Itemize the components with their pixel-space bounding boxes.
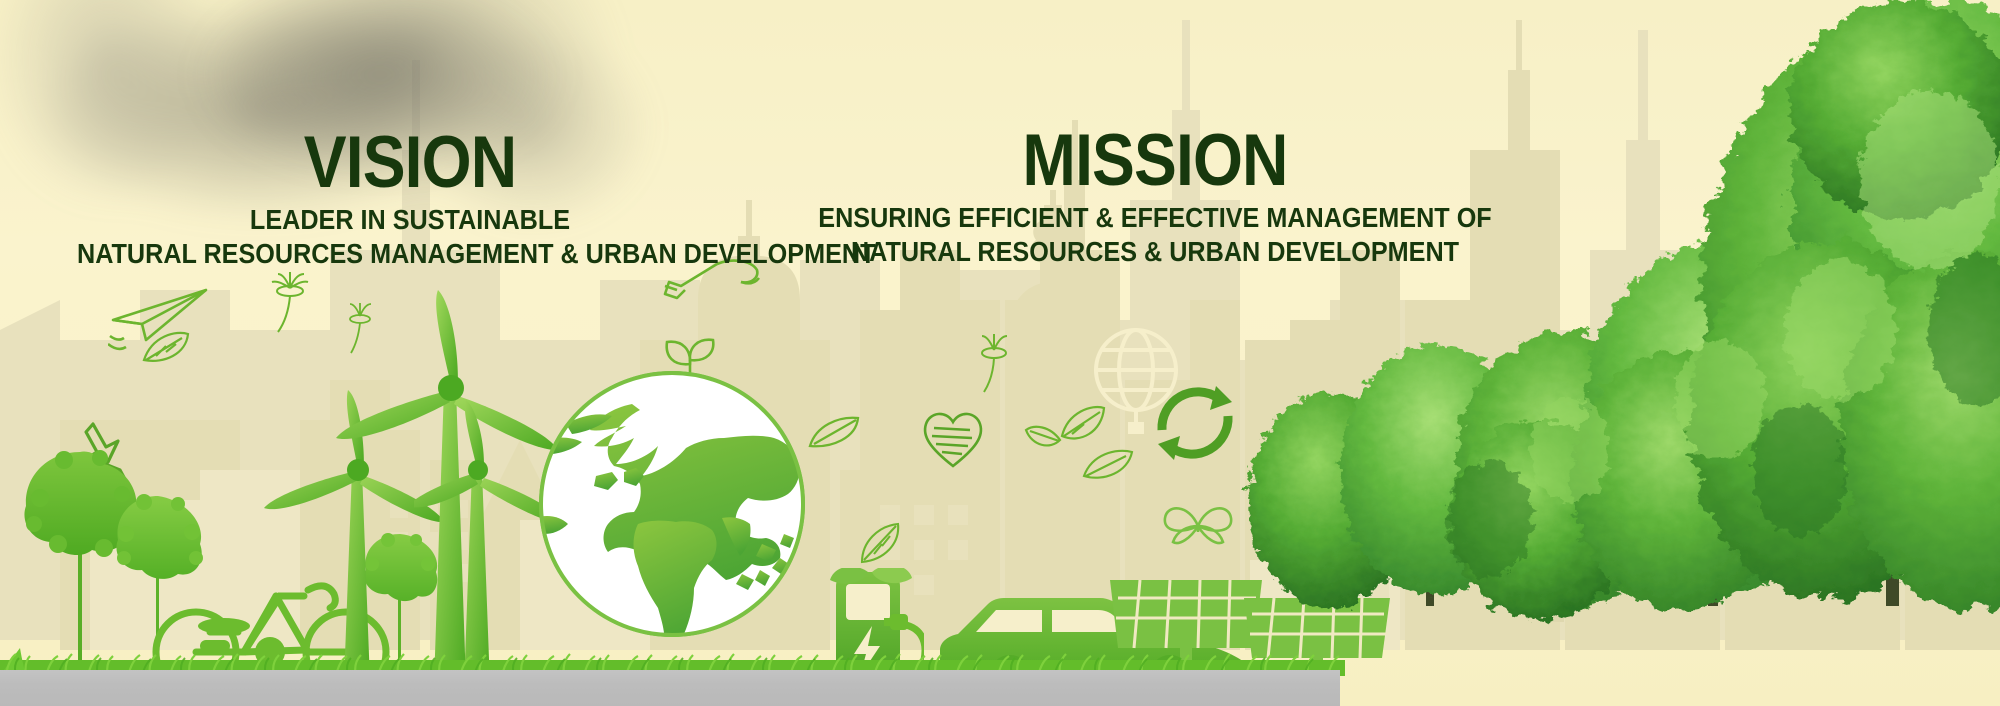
dandelion-icon	[966, 332, 1022, 400]
butterfly-icon	[1163, 498, 1233, 554]
photo-trees	[1240, 0, 2000, 706]
recycle-arrows-icon	[1140, 368, 1250, 478]
leaf-icon	[850, 520, 902, 568]
globe-illustration	[536, 368, 808, 640]
eco-vision-mission-banner: VISION LEADER IN SUSTAINABLE NATURAL RES…	[0, 0, 2000, 706]
heart-icon	[920, 408, 986, 470]
watering-can-icon	[655, 250, 775, 312]
leaf-icon	[806, 412, 862, 452]
road-strip	[0, 670, 1340, 706]
leaf-icon	[1082, 448, 1134, 482]
leaf-icon	[142, 330, 190, 364]
